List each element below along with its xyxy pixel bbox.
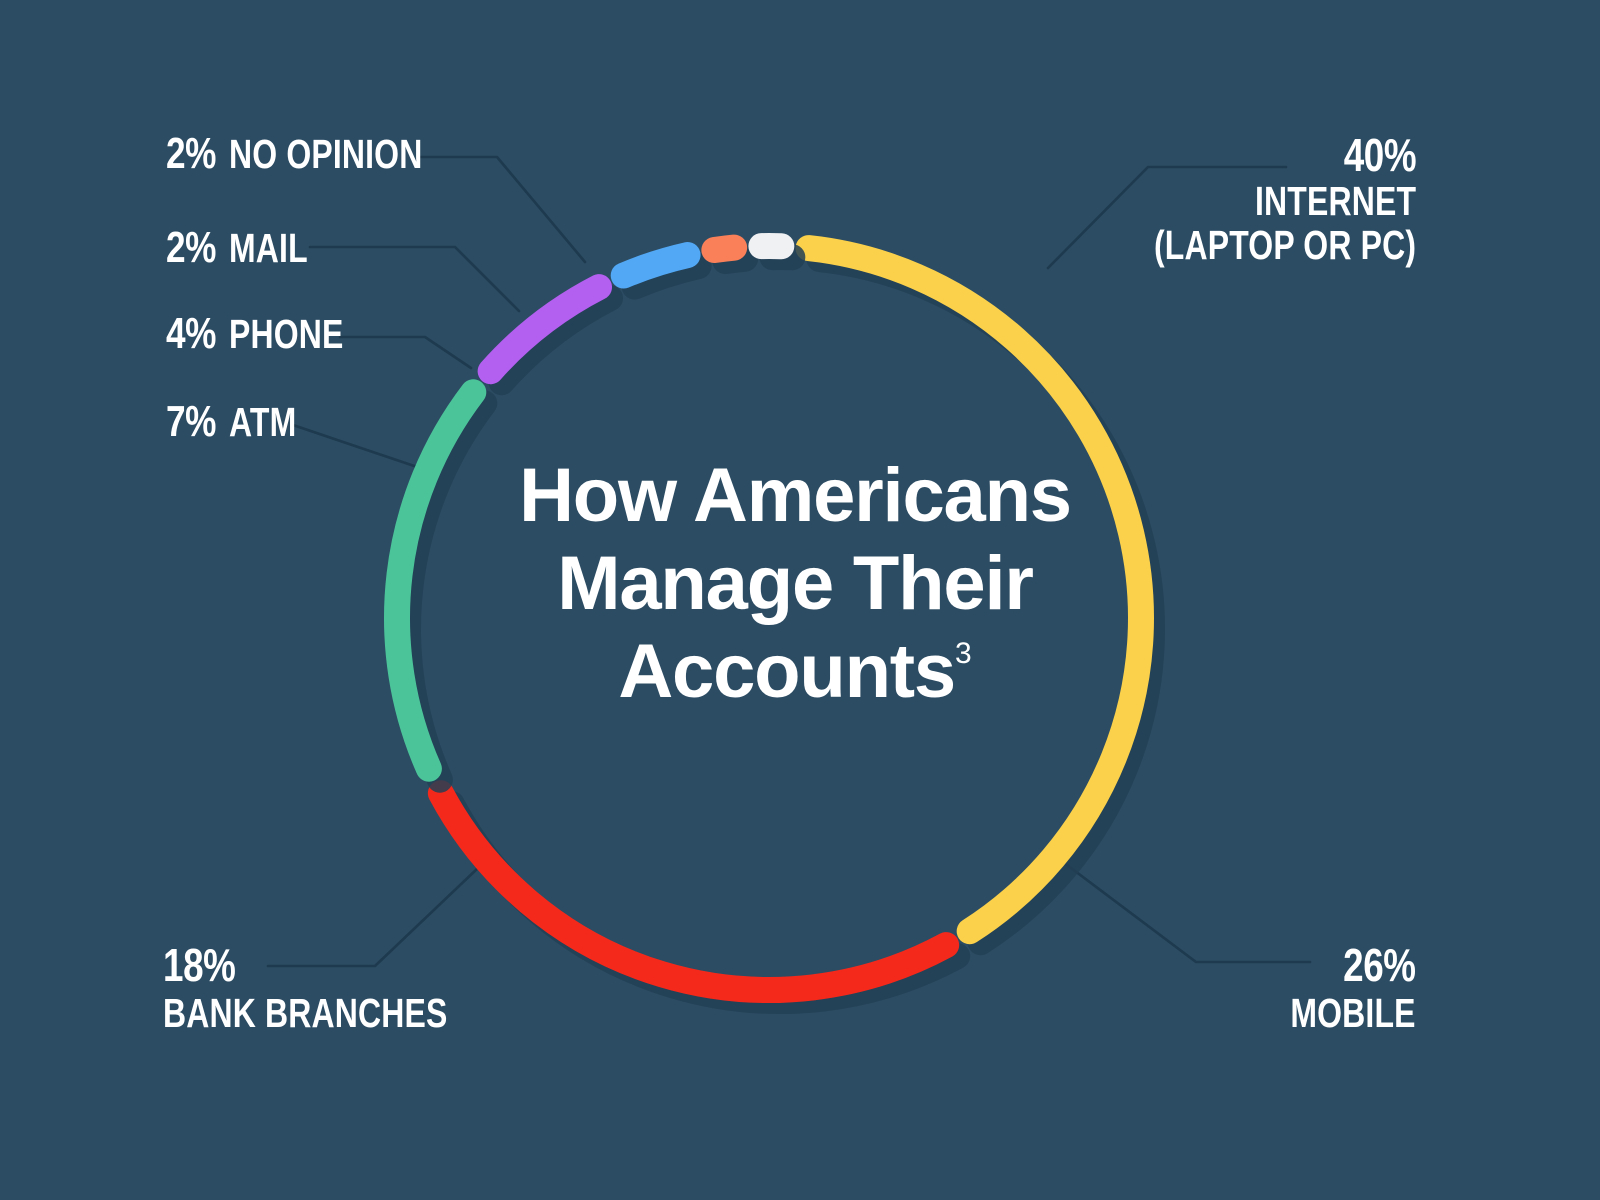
title-footnote-marker: 3 — [955, 637, 972, 670]
callout-bank-branches-label: BANK BRANCHES — [163, 993, 448, 1035]
title-line-1: How Americans — [465, 452, 1125, 540]
callout-mail-label: MAIL — [229, 228, 308, 270]
callout-no-opinion: 2%NO OPINION — [166, 132, 477, 177]
callout-internet-sublabel: (LAPTOP OR PC) — [1154, 225, 1416, 267]
callout-phone-label: PHONE — [229, 314, 344, 356]
callout-atm: 7%ATM — [166, 400, 315, 445]
callout-bank-branches: 18% BANK BRANCHES — [163, 942, 528, 1035]
callout-internet-percent: 40% — [1147, 132, 1416, 179]
callout-bank-branches-percent: 18% — [163, 942, 455, 989]
callout-atm-label: ATM — [229, 402, 296, 444]
callout-phone: 4%PHONE — [166, 312, 375, 357]
callout-atm-percent: 7% — [166, 400, 216, 445]
callout-internet: 40% INTERNET (LAPTOP OR PC) — [1080, 132, 1416, 267]
title-line-2: Manage Their — [465, 540, 1125, 628]
callout-mobile: 26% MOBILE — [1255, 942, 1416, 1035]
callout-mail: 2%MAIL — [166, 226, 330, 271]
callout-mobile-label: MOBILE — [1291, 993, 1416, 1035]
infographic-canvas: 2%NO OPINION 2%MAIL 4%PHONE 7%ATM 40% IN… — [0, 0, 1600, 1200]
donut-segment-mail[interactable] — [714, 248, 734, 250]
connector-mail — [310, 247, 519, 311]
callout-no-opinion-percent: 2% — [166, 132, 216, 177]
title-line-3: Accounts3 — [465, 628, 1125, 716]
callout-internet-label: INTERNET — [1154, 181, 1416, 223]
title-line-3-text: Accounts — [618, 629, 955, 714]
callout-phone-percent: 4% — [166, 312, 216, 357]
callout-no-opinion-label: NO OPINION — [229, 134, 422, 176]
callout-mobile-percent: 26% — [1287, 942, 1416, 989]
callout-mail-percent: 2% — [166, 226, 216, 271]
chart-center-title: How Americans Manage Their Accounts3 — [465, 452, 1125, 716]
